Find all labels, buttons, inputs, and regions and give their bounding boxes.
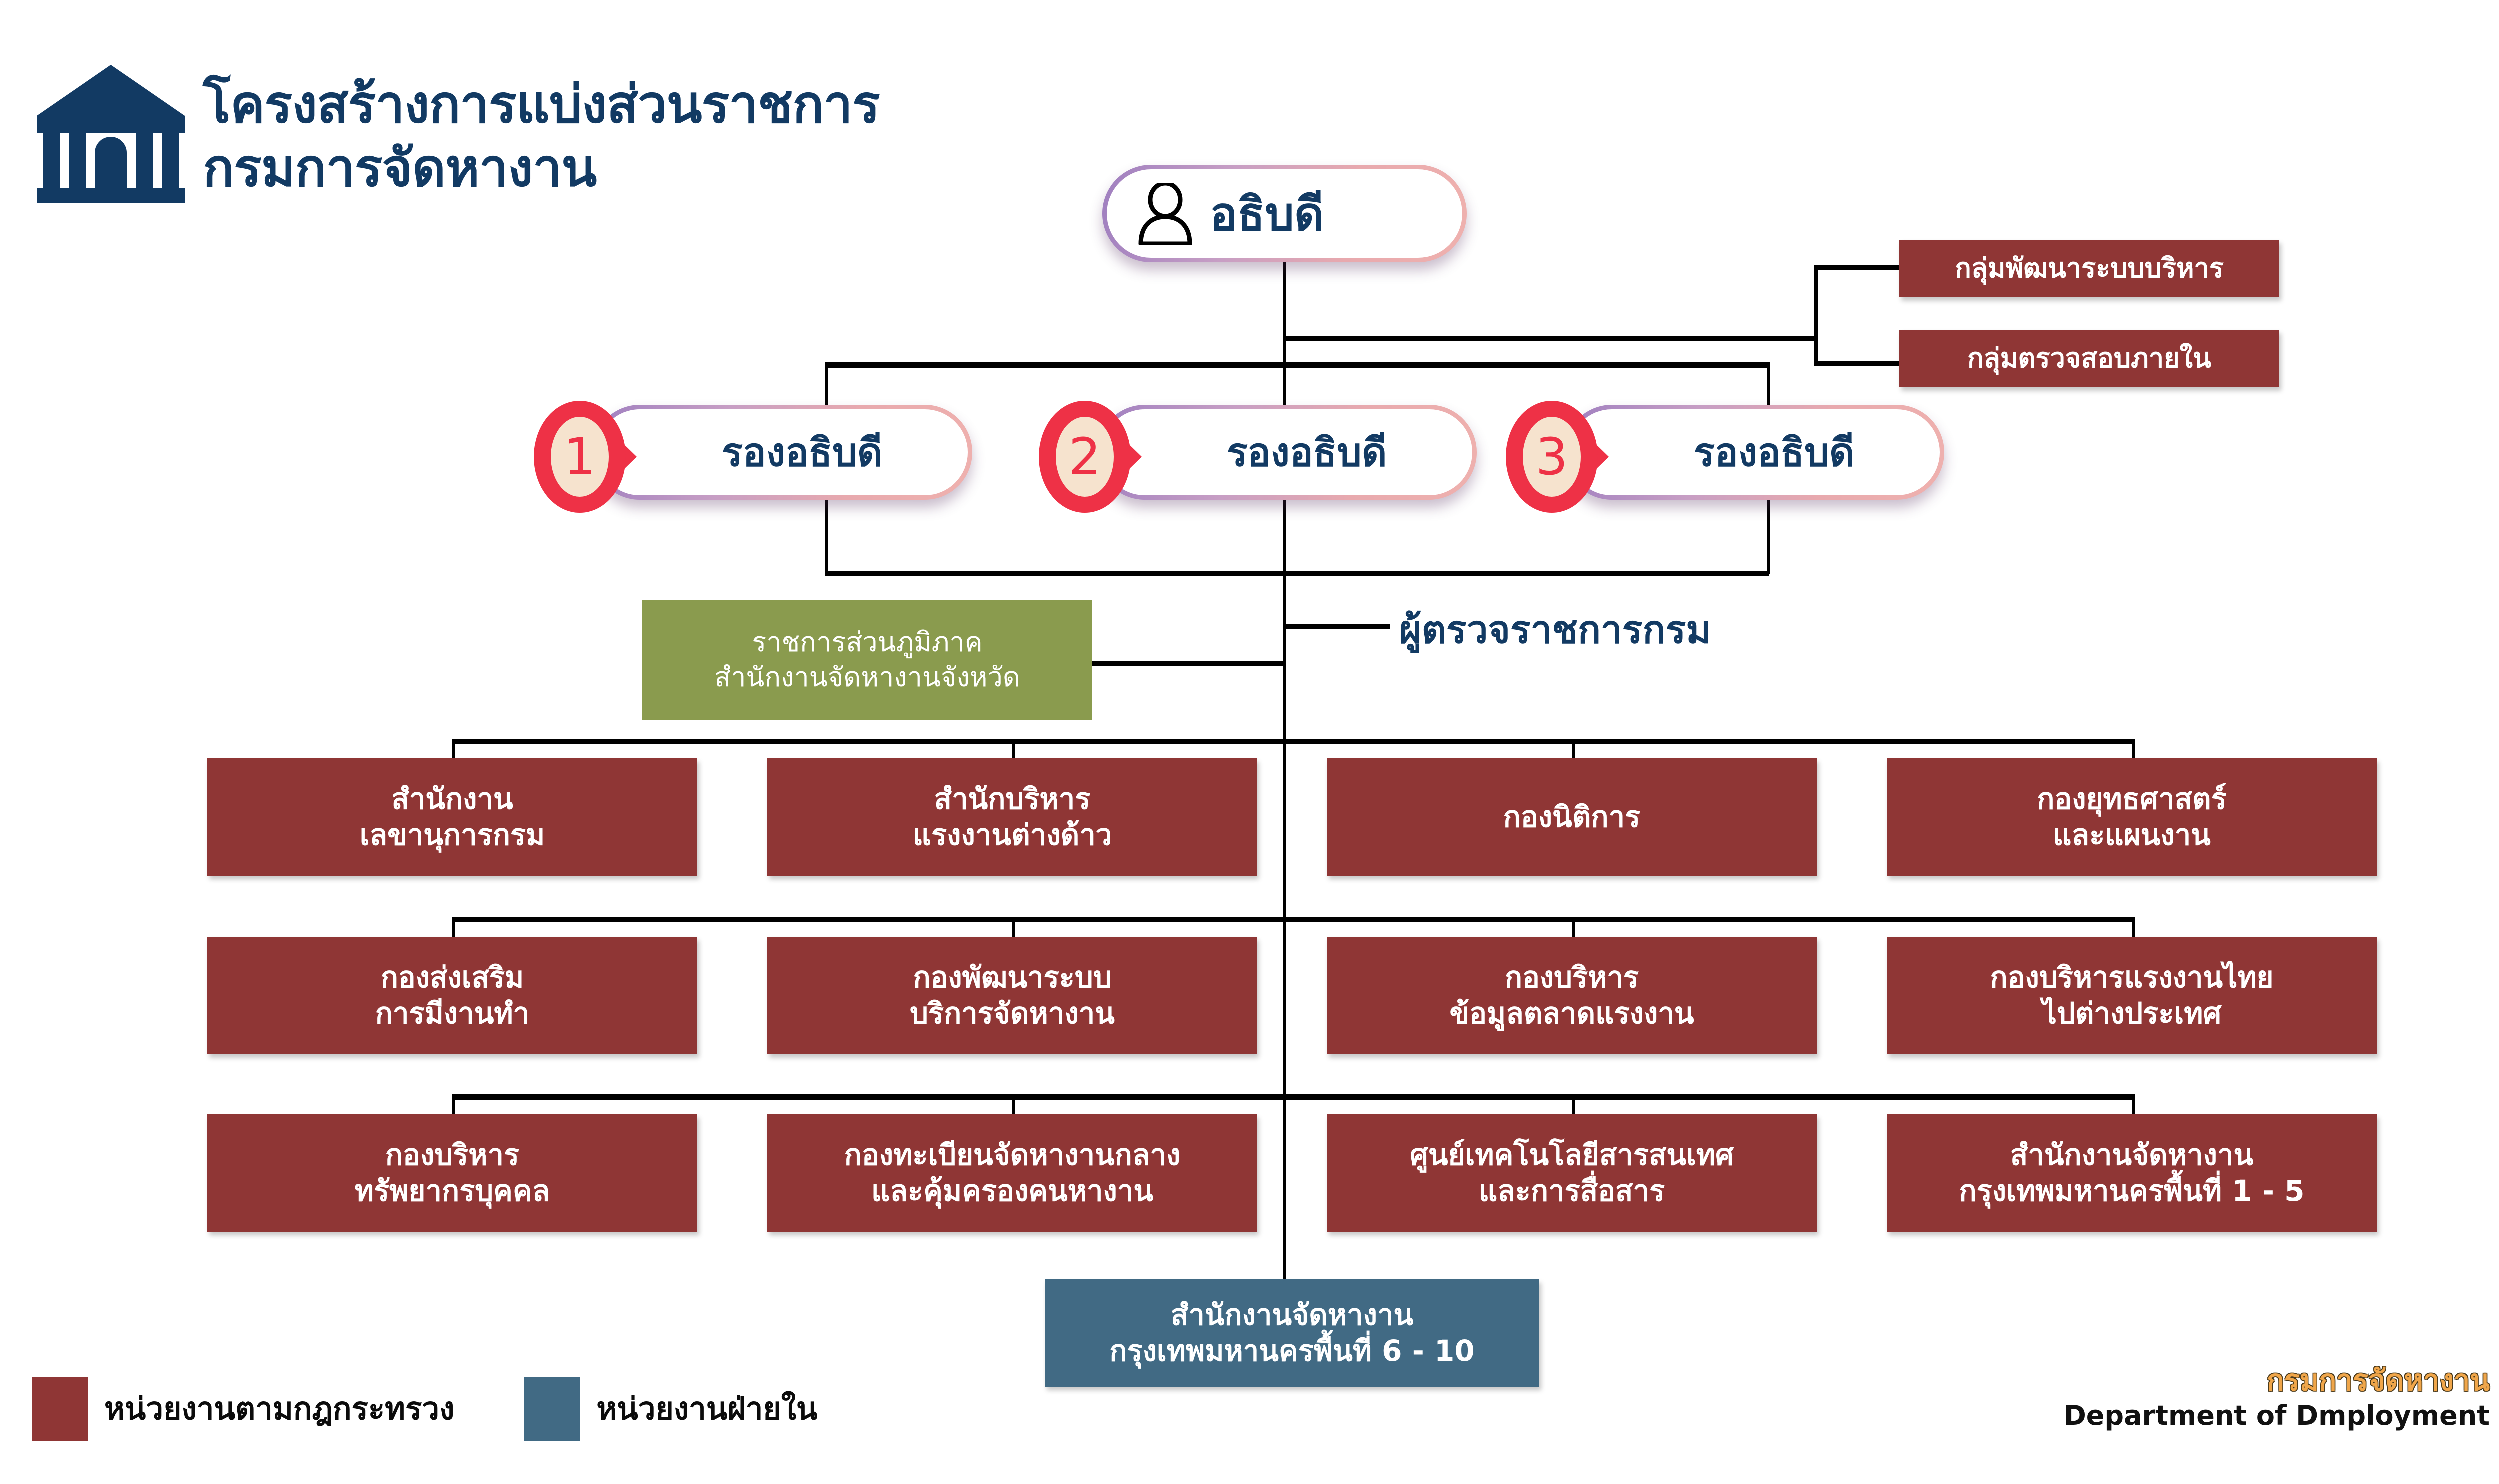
node-deputy-2-label: รองอธิบดี [1227,421,1387,483]
connector-provincial [1090,661,1285,666]
node-staff-unit-1[interactable]: กลุ่มตรวจสอบภายใน [1899,330,2279,387]
title-line-1: โครงสร้างการแบ่งส่วนราชการ [203,73,880,136]
footer-text-block: กรมการจัดหางาน Department of Dmployment [2064,1364,2490,1432]
connector-row-1-drop-1 [1012,917,1015,939]
node-division-r2c1[interactable]: กองทะเบียนจัดหางานกลาง และคุ้มครองคนหางา… [767,1114,1257,1232]
node-division-r0c1[interactable]: สำนักบริหาร แรงงานต่างด้าว [767,758,1257,876]
deputy-number-badge-1: 1 [521,400,671,513]
connector-inspector [1283,624,1390,629]
connector-trunk-lower [1283,580,1286,1284]
node-division-r2c2[interactable]: ศูนย์เทคโนโลยีสารสนเทศ และการสื่อสาร [1327,1114,1817,1232]
node-internal-unit[interactable]: สำนักงานจัดหางาน กรุงเทพมหานครพื้นที่ 6 … [1045,1279,1539,1387]
node-inspector-label: ผู้ตรวจราชการกรม [1399,600,1711,660]
node-division-r1c1-line-1: กองพัฒนาระบบ [913,960,1111,996]
connector-row-2-bar [452,1094,2134,1100]
deputy-number-1: 1 [538,400,622,513]
connector-deputy-bottom-bar [825,571,1769,576]
node-provincial-line-2: สำนักงานจัดหางานจังหวัด [714,660,1020,695]
node-division-r1c0-line-2: การมีงานทำ [375,996,529,1032]
node-division-r1c1[interactable]: กองพัฒนาระบบ บริการจัดหางาน [767,937,1257,1054]
connector-staff-top [1814,265,1902,270]
node-division-r0c0[interactable]: สำนักงาน เลขานุการกรม [207,758,697,876]
legend: หน่วยงานตามกฎกระทรวง หน่วยงานฝ่ายใน [32,1377,817,1441]
node-deputy-1-label: รองอธิบดี [722,421,882,483]
node-division-r1c2[interactable]: กองบริหาร ข้อมูลตลาดแรงงาน [1327,937,1817,1054]
node-division-r1c2-line-1: กองบริหาร [1505,960,1639,996]
connector-row-0-bar [452,739,2134,744]
node-division-r1c3[interactable]: กองบริหารแรงงานไทย ไปต่างประเทศ [1887,937,2377,1054]
node-division-r2c3-line-1: สำนักงานจัดหางาน [2010,1137,2253,1173]
connector-row-1-drop-2 [1572,917,1575,939]
node-internal-unit-line-2: กรุงเทพมหานครพื้นที่ 6 - 10 [1109,1333,1474,1369]
node-division-r0c3-line-1: กองยุทธศาสตร์ [2037,781,2227,817]
node-division-r0c3-line-2: และแผนงาน [2053,817,2211,853]
connector-deputy-1-up [825,362,828,410]
connector-deputy-3-up [1767,362,1770,410]
page-header: โครงสร้างการแบ่งส่วนราชการ กรมการจัดหางา… [36,60,880,205]
node-deputy-1[interactable]: 1 รองอธิบดี [592,405,972,500]
node-division-r1c2-line-2: ข้อมูลตลาดแรงงาน [1449,996,1694,1032]
footer-english-name: Department of Dmployment [2064,1400,2490,1432]
footer-branding: กรมการจัดหางาน Department of Dmployment [2064,1344,2499,1452]
node-division-r1c3-line-1: กองบริหารแรงงานไทย [1990,960,2274,996]
node-division-r2c2-line-1: ศูนย์เทคโนโลยีสารสนเทศ [1410,1137,1734,1173]
node-provincial-administration[interactable]: ราชการส่วนภูมิภาค สำนักงานจัดหางานจังหวั… [642,600,1092,720]
node-staff-unit-0[interactable]: กลุ่มพัฒนาระบบบริหาร [1899,240,2279,297]
legend-label-ministerial: หน่วยงานตามกฎกระทรวง [104,1384,454,1433]
connector-row-1-drop-0 [452,917,455,939]
connector-director-to-staff [1283,336,1818,341]
node-staff-unit-1-label: กลุ่มตรวจสอบภายใน [1967,342,2211,375]
connector-deputy-1-down [825,500,828,574]
node-division-r2c0-line-1: กองบริหาร [385,1137,519,1173]
connector-deputy-bar [825,362,1769,368]
deputy-number-badge-2: 2 [1026,400,1176,513]
node-deputy-2[interactable]: 2 รองอธิบดี [1097,405,1477,500]
node-division-r1c3-line-2: ไปต่างประเทศ [2042,996,2222,1032]
node-division-r0c0-line-2: เลขานุการกรม [360,817,545,853]
node-division-r0c2[interactable]: กองนิติการ [1327,758,1817,876]
connector-row-2-drop-1 [1012,1094,1015,1117]
connector-row-0-drop-0 [452,739,455,761]
deputy-number-badge-3: 3 [1493,400,1643,513]
node-provincial-line-1: ราชการส่วนภูมิภาค [752,625,982,660]
connector-staff-bottom [1814,361,1902,366]
legend-item-internal: หน่วยงานฝ่ายใน [524,1377,817,1441]
connector-row-1-bar [452,917,2134,922]
node-director[interactable]: อธิบดี [1102,165,1467,262]
connector-row-1-drop-3 [2132,917,2135,939]
footer-thai-name: กรมการจัดหางาน [2064,1364,2490,1397]
connector-row-0-drop-2 [1572,739,1575,761]
node-division-r2c2-line-2: และการสื่อสาร [1479,1173,1665,1209]
node-division-r2c0[interactable]: กองบริหาร ทรัพยากรบุคคล [207,1114,697,1232]
node-division-r2c3[interactable]: สำนักงานจัดหางาน กรุงเทพมหานครพื้นที่ 1 … [1887,1114,2377,1232]
node-division-r1c0-line-1: กองส่งเสริม [381,960,524,996]
node-staff-unit-0-label: กลุ่มพัฒนาระบบบริหาร [1955,252,2224,285]
page-title: โครงสร้างการแบ่งส่วนราชการ กรมการจัดหางา… [203,60,880,200]
connector-row-0-drop-1 [1012,739,1015,761]
connector-deputy-3-down [1767,500,1770,574]
bank-building-icon [36,60,186,205]
connector-row-0-drop-3 [2132,739,2135,761]
legend-swatch-red-icon [32,1377,88,1441]
node-deputy-3-label: รองอธิบดี [1694,421,1854,483]
legend-item-ministerial: หน่วยงานตามกฎกระทรวง [32,1377,454,1441]
connector-staff-spine [1814,265,1818,365]
node-internal-unit-line-1: สำนักงานจัดหางาน [1171,1297,1413,1333]
person-icon [1136,183,1195,245]
node-division-r0c1-line-1: สำนักบริหาร [934,781,1091,817]
connector-row-2-drop-3 [2132,1094,2135,1117]
node-deputy-3[interactable]: 3 รองอธิบดี [1564,405,1944,500]
legend-swatch-blue-icon [524,1377,580,1441]
node-division-r2c0-line-2: ทรัพยากรบุคคล [355,1173,550,1209]
node-division-r1c1-line-2: บริการจัดหางาน [910,996,1115,1032]
deputy-number-3: 3 [1510,400,1594,513]
node-division-r2c1-line-1: กองทะเบียนจัดหางานกลาง [844,1137,1180,1173]
connector-row-2-drop-0 [452,1094,455,1117]
node-division-r0c2-line-1: กองนิติการ [1503,799,1640,835]
org-chart-canvas: โครงสร้างการแบ่งส่วนราชการ กรมการจัดหางา… [0,0,2499,1484]
node-division-r1c0[interactable]: กองส่งเสริม การมีงานทำ [207,937,697,1054]
node-division-r2c1-line-2: และคุ้มครองคนหางาน [871,1173,1153,1209]
node-division-r0c0-line-1: สำนักงาน [391,781,513,817]
node-division-r2c3-line-2: กรุงเทพมหานครพื้นที่ 1 - 5 [1959,1173,2305,1209]
connector-row-2-drop-2 [1572,1094,1575,1117]
legend-label-internal: หน่วยงานฝ่ายใน [596,1384,817,1433]
node-division-r0c3[interactable]: กองยุทธศาสตร์ และแผนงาน [1887,758,2377,876]
node-director-label: อธิบดี [1210,177,1324,250]
node-division-r0c1-line-2: แรงงานต่างด้าว [913,817,1112,853]
deputy-number-2: 2 [1043,400,1127,513]
title-line-2: กรมการจัดหางาน [203,136,880,200]
